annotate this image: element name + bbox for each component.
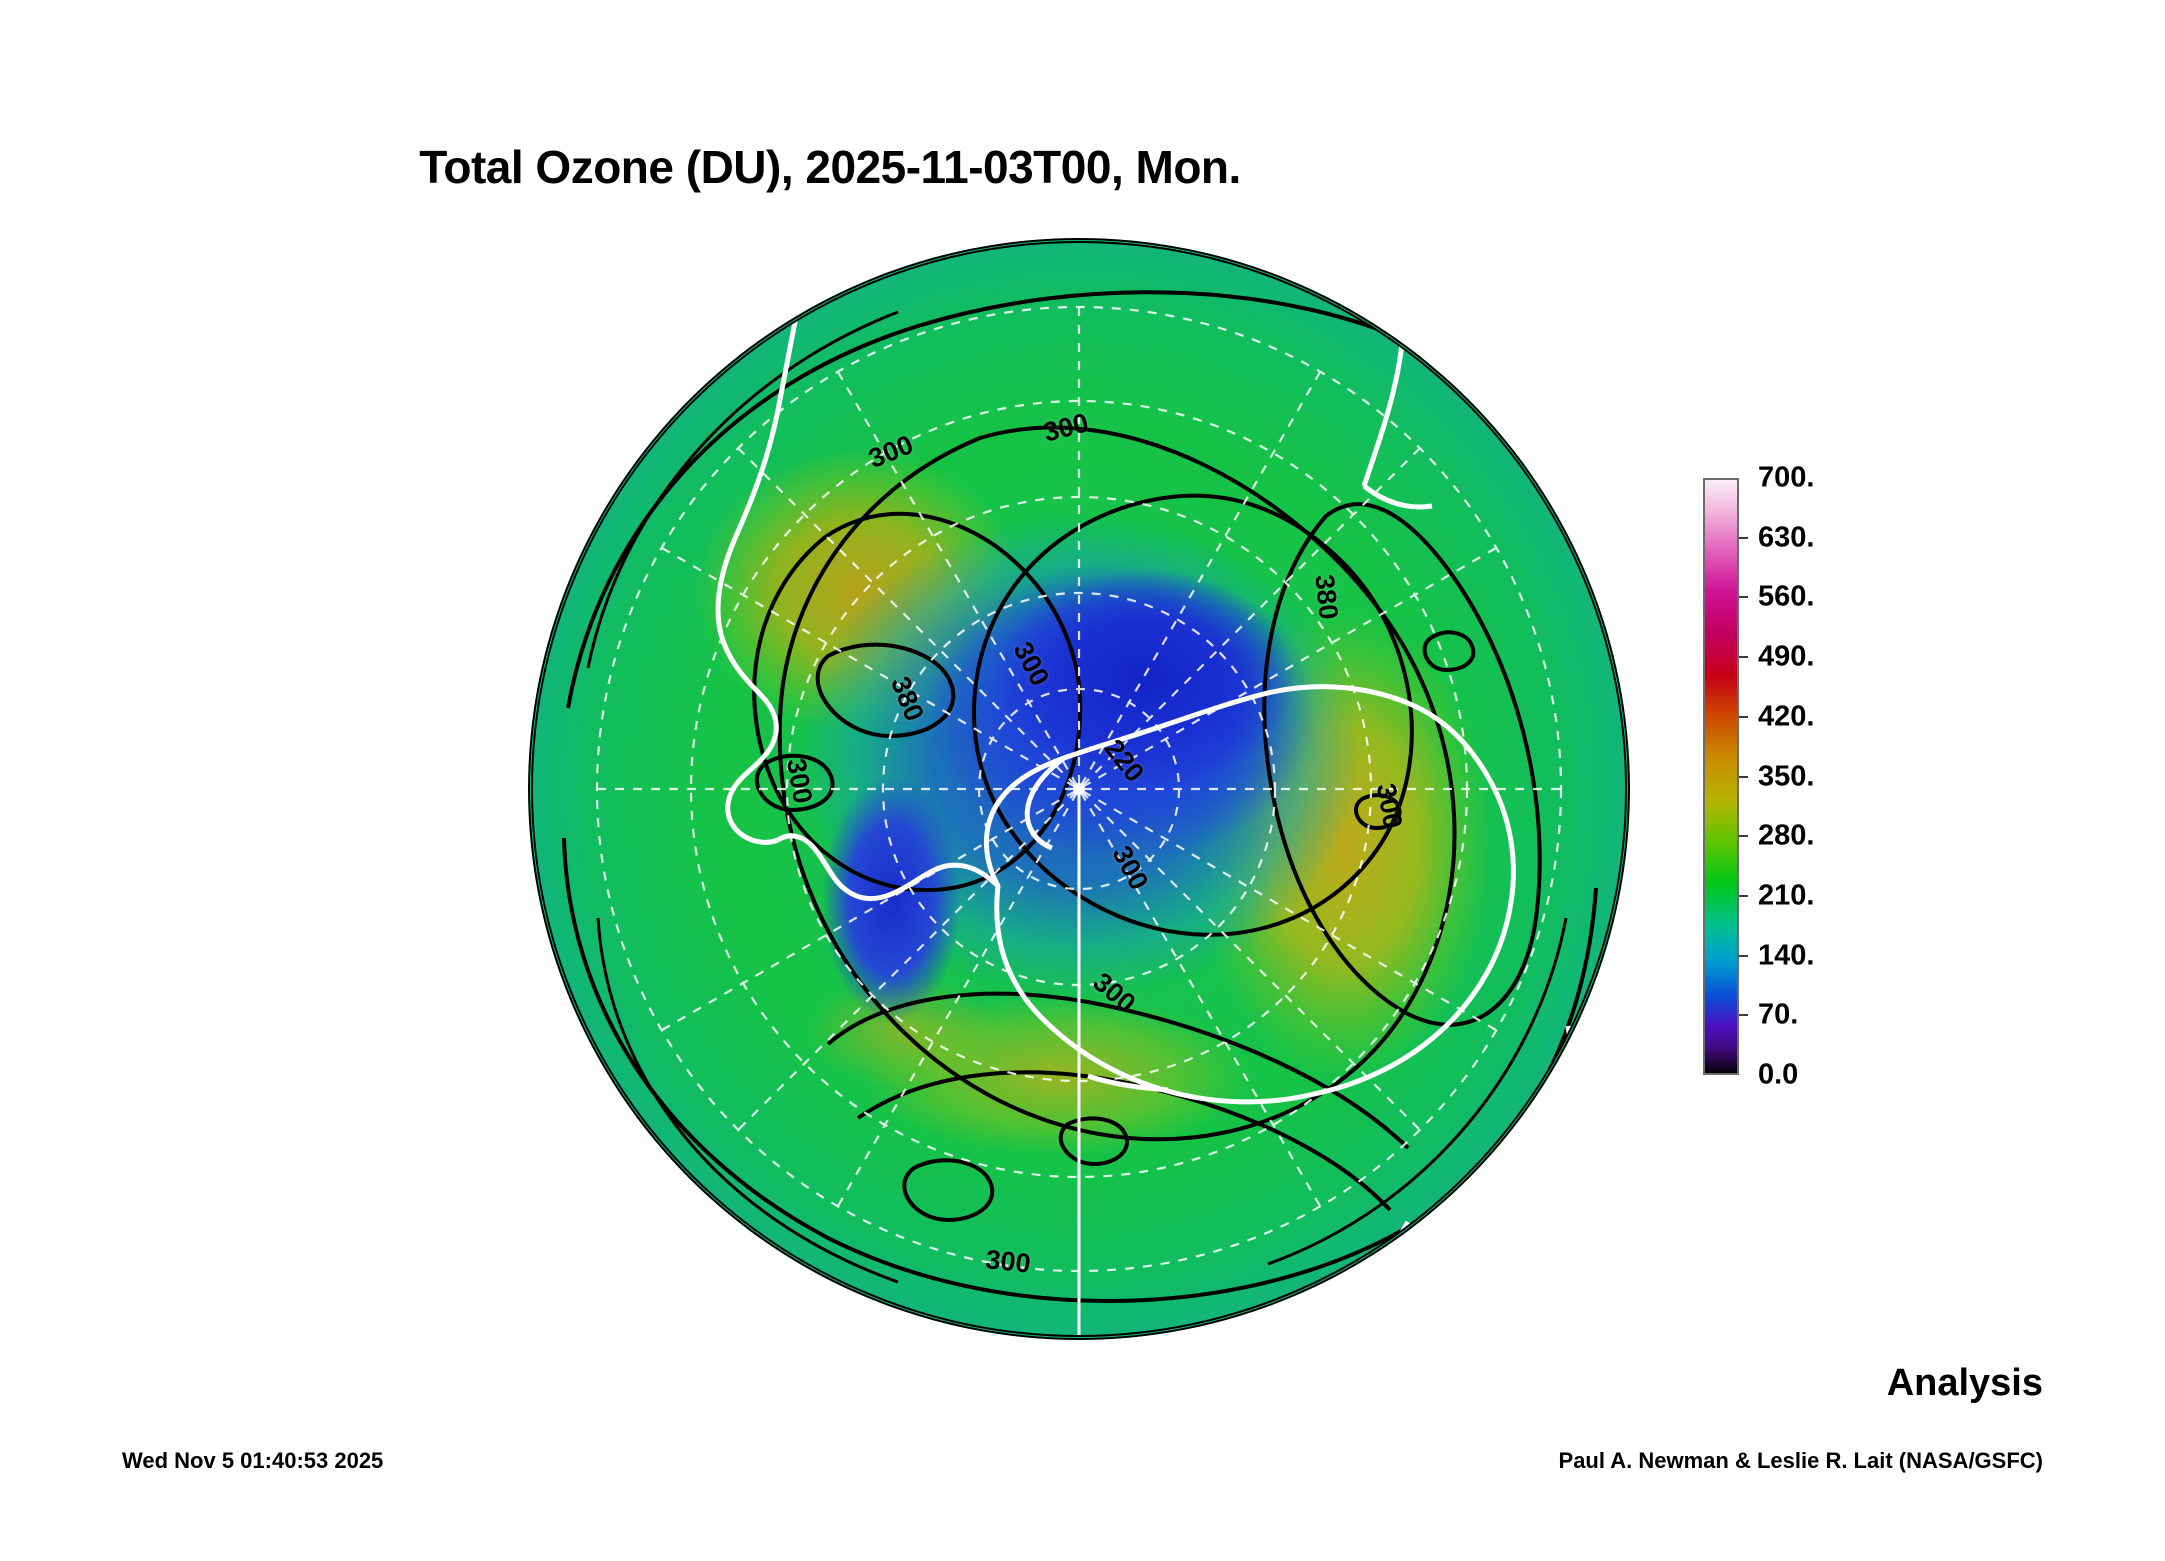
render-timestamp: Wed Nov 5 01:40:53 2025 bbox=[122, 1448, 383, 1474]
contour-label-300: 300 bbox=[984, 1244, 1032, 1280]
colorbar-tick-label: 420. bbox=[1758, 702, 1814, 731]
colorbar-tick bbox=[1739, 835, 1748, 837]
pole-marker bbox=[1073, 783, 1085, 795]
map-vector-overlay bbox=[528, 238, 1630, 1340]
colorbar-tick-label: 210. bbox=[1758, 881, 1814, 910]
colorbar-tick bbox=[1739, 776, 1748, 778]
colorbar-tick bbox=[1739, 895, 1748, 897]
colorbar-tick bbox=[1739, 716, 1748, 718]
colorbar-tick bbox=[1739, 537, 1748, 539]
colorbar-tick-label: 0.0 bbox=[1758, 1061, 1798, 1090]
colorbar-tick-label: 560. bbox=[1758, 583, 1814, 612]
colorbar-tick-label: 280. bbox=[1758, 822, 1814, 851]
contour-lines bbox=[564, 292, 1598, 1301]
colorbar-tick bbox=[1739, 596, 1748, 598]
author-credit: Paul A. Newman & Leslie R. Lait (NASA/GS… bbox=[1559, 1448, 2043, 1474]
page-title: Total Ozone (DU), 2025-11-03T00, Mon. bbox=[0, 140, 1660, 194]
colorbar-tick-label: 140. bbox=[1758, 941, 1814, 970]
colorbar-tick bbox=[1739, 656, 1748, 658]
ozone-map bbox=[528, 238, 1630, 1340]
colorbar-tick-label: 490. bbox=[1758, 643, 1814, 672]
colorbar-tick-label: 630. bbox=[1758, 523, 1814, 552]
colorbar bbox=[1703, 478, 1739, 1075]
colorbar-tick bbox=[1739, 1014, 1748, 1016]
analysis-label: Analysis bbox=[1887, 1362, 2043, 1405]
colorbar-tick-label: 70. bbox=[1758, 1001, 1798, 1030]
colorbar-tick-label: 350. bbox=[1758, 762, 1814, 791]
colorbar-tick-label: 700. bbox=[1758, 464, 1814, 493]
contour-label-380: 380 bbox=[1308, 573, 1344, 621]
colorbar-tick bbox=[1739, 955, 1748, 957]
